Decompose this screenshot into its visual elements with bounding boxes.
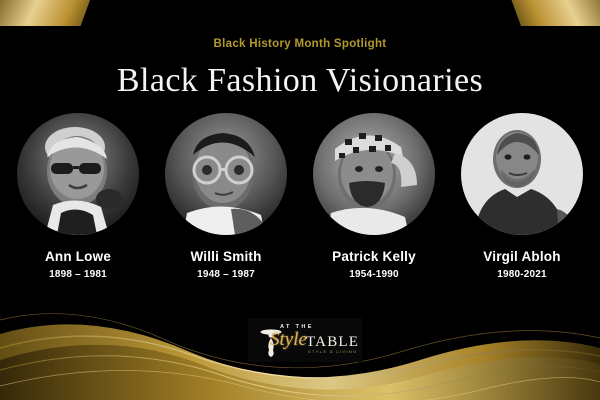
eyebrow-label: Black History Month Spotlight bbox=[0, 38, 600, 50]
page-title: Black Fashion Visionaries bbox=[0, 62, 600, 100]
person-name: Patrick Kelly bbox=[332, 249, 416, 264]
logo-tagline: STYLE & LIVING bbox=[308, 349, 358, 354]
person-dates: 1954-1990 bbox=[349, 269, 399, 280]
top-gold-ribbon-decoration bbox=[0, 0, 600, 120]
person-card: Ann Lowe 1898 – 1981 bbox=[14, 113, 142, 293]
gold-ribbon-topleft-inner bbox=[0, 0, 105, 120]
gold-ribbon-topright-main bbox=[540, 0, 600, 120]
person-dates: 1898 – 1981 bbox=[49, 269, 107, 280]
brand-logo[interactable]: AT THE Style TABLE STYLE & LIVING bbox=[248, 318, 362, 362]
person-card: Patrick Kelly 1954-1990 bbox=[310, 113, 438, 293]
person-card: Willi Smith 1948 – 1987 bbox=[162, 113, 290, 293]
gold-ribbon-topleft-main bbox=[0, 0, 46, 120]
black-chevron-mask bbox=[0, 0, 600, 120]
patrick-kelly-portrait bbox=[313, 113, 435, 235]
ann-lowe-portrait bbox=[17, 113, 139, 235]
logo-script-text: Style bbox=[270, 329, 307, 351]
person-card: Virgil Abloh 1980-2021 bbox=[458, 113, 586, 293]
virgil-abloh-portrait bbox=[461, 113, 583, 235]
gold-ribbon-topright-inner bbox=[486, 0, 600, 120]
person-dates: 1948 – 1987 bbox=[197, 269, 255, 280]
person-name: Willi Smith bbox=[190, 249, 261, 264]
visionaries-row: Ann Lowe 1898 – 1981 bbox=[0, 113, 600, 293]
person-name: Virgil Abloh bbox=[483, 249, 560, 264]
willi-smith-portrait bbox=[165, 113, 287, 235]
person-name: Ann Lowe bbox=[45, 249, 111, 264]
person-dates: 1980-2021 bbox=[497, 269, 547, 280]
poster-canvas: Black History Month Spotlight Black Fash… bbox=[0, 0, 600, 400]
